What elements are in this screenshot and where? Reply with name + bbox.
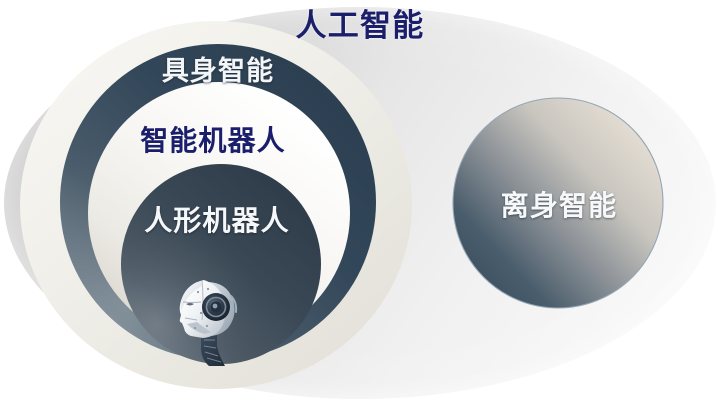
- label-disembodied-intelligence: 离身智能: [448, 192, 670, 220]
- robot-neck: [201, 334, 225, 366]
- label-intelligent-robot: 智能机器人: [38, 127, 388, 155]
- diagram-canvas: 人工智能 具身智能 智能机器人 人形机器人 离身智能: [0, 0, 720, 405]
- robot-ear-core: [213, 304, 218, 309]
- label-humanoid-robot: 人形机器人: [42, 207, 392, 235]
- label-artificial-intelligence: 人工智能: [0, 10, 720, 41]
- label-embodied-intelligence: 具身智能: [48, 58, 388, 85]
- robot-head-icon: [171, 272, 243, 368]
